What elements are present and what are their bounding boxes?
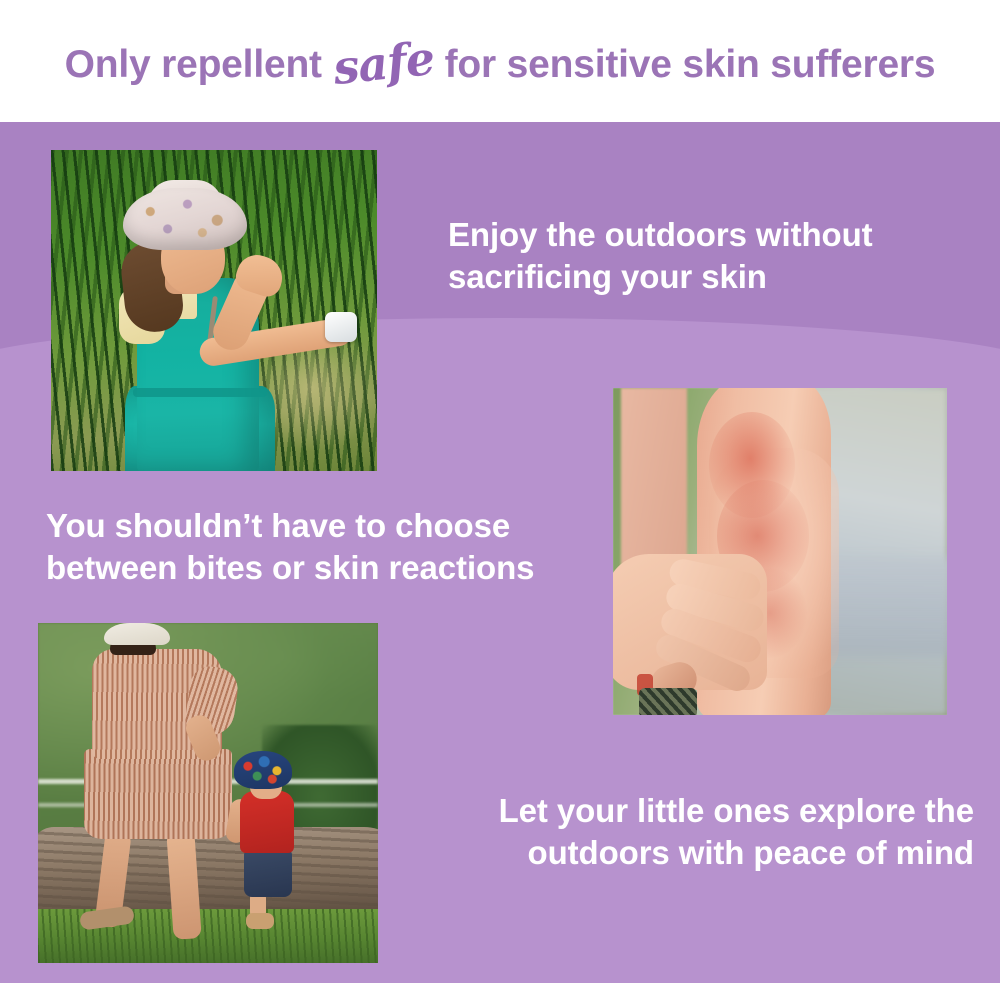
copy-line: Let your little ones explore the xyxy=(408,790,974,832)
sleeve-cuff xyxy=(639,688,697,715)
copy-shouldnt-have-to-choose: You shouldn’t have to choose between bit… xyxy=(46,505,606,588)
repellent-bottle xyxy=(325,312,357,342)
copy-enjoy-the-outdoors: Enjoy the outdoors without sacrificing y… xyxy=(448,214,948,297)
floral-sun-hat xyxy=(123,188,247,250)
woman-sun-hat xyxy=(104,623,170,645)
copy-line: outdoors with peace of mind xyxy=(408,832,974,874)
photo-mother-and-toddler-log xyxy=(38,623,378,963)
toddler-shoe xyxy=(246,913,274,929)
photo-girl-applying-repellent xyxy=(51,150,377,471)
fallen-log xyxy=(38,827,378,915)
woman-striped-skirt xyxy=(84,749,232,839)
copy-line: sacrificing your skin xyxy=(448,256,948,298)
headline-suffix: for sensitive skin sufferers xyxy=(445,43,936,87)
copy-let-your-little-ones: Let your little ones explore the outdoor… xyxy=(408,790,974,873)
photo-leg-rash-scratching xyxy=(613,388,947,715)
copy-line: between bites or skin reactions xyxy=(46,547,606,589)
page-title: Only repellent safe for sensitive skin s… xyxy=(65,34,936,88)
toddler-shorts xyxy=(244,849,292,897)
toddler-red-shirt xyxy=(240,791,294,853)
copy-line: Enjoy the outdoors without xyxy=(448,214,948,256)
headline-script-word: safe xyxy=(331,31,437,95)
copy-line: You shouldn’t have to choose xyxy=(46,505,606,547)
footer-band xyxy=(0,983,1000,1000)
header-band: Only repellent safe for sensitive skin s… xyxy=(0,0,1000,122)
dress-waistband xyxy=(133,388,267,397)
infographic-canvas: Only repellent safe for sensitive skin s… xyxy=(0,0,1000,1000)
headline-prefix: Only repellent xyxy=(65,43,322,87)
toddler-patterned-hat xyxy=(234,751,292,789)
